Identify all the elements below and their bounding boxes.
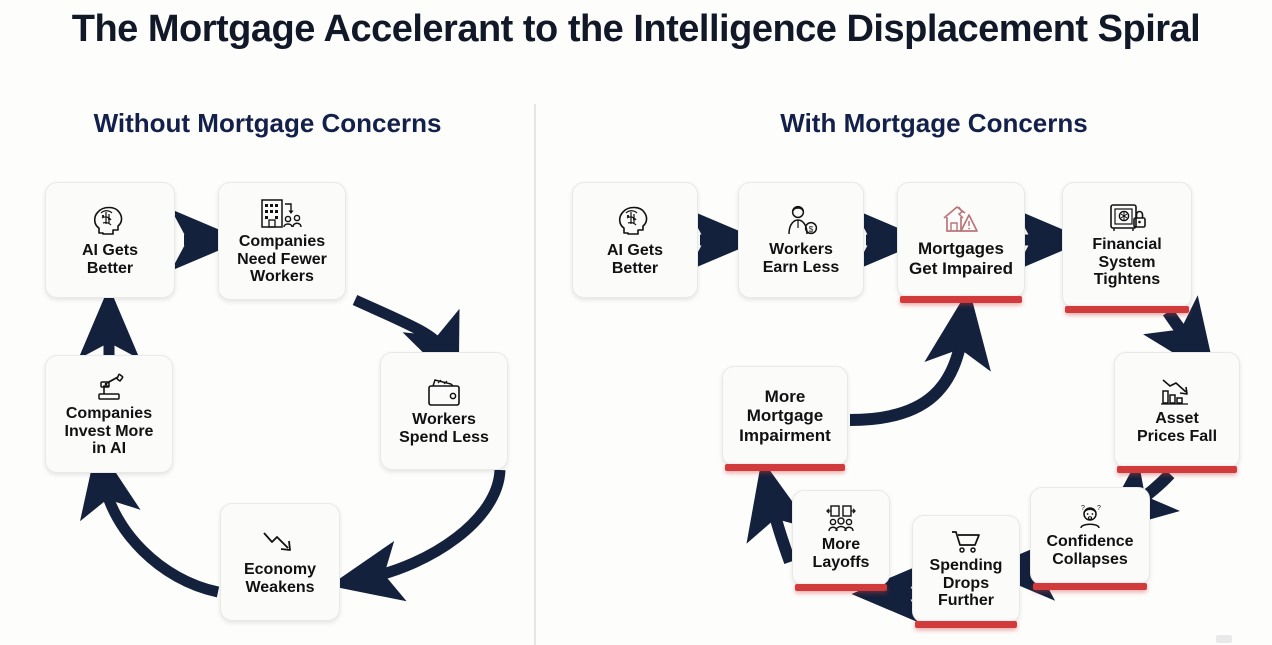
node-label: Financial System Tightens: [1088, 236, 1165, 290]
node-asset-prices-fall[interactable]: Asset Prices Fall: [1114, 352, 1240, 468]
node-confidence-collapses[interactable]: ? ? Confidence Collapses: [1030, 487, 1150, 585]
arrow-more-impair-to-mortgages: [850, 330, 963, 420]
node-label: Companies Invest More in AI: [61, 405, 158, 459]
shopping-cart-icon: [949, 528, 983, 554]
page-title: The Mortgage Accelerant to the Intellige…: [0, 8, 1272, 51]
arrow-spend-to-economy: [367, 470, 500, 578]
node-label: Companies Need Fewer Workers: [233, 233, 331, 287]
node-more-layoffs[interactable]: More Layoffs: [792, 490, 890, 586]
node-spending-drops-further[interactable]: Spending Drops Further: [912, 515, 1020, 623]
node-label: Asset Prices Fall: [1133, 410, 1221, 446]
robot-arm-icon: [87, 370, 131, 402]
arrow-financial-to-asset: [1168, 312, 1192, 345]
brain-head-icon: [615, 203, 655, 239]
chart-down-icon: [1156, 375, 1198, 407]
watermark-mark: [1216, 635, 1232, 643]
svg-text:?: ?: [1097, 505, 1101, 512]
worker-coin-icon: $: [782, 204, 820, 238]
arrow-companies-to-spend: [355, 300, 444, 352]
node-companies-need-fewer-workers[interactable]: Companies Need Fewer Workers: [218, 182, 346, 300]
node-label: Workers Earn Less: [759, 241, 843, 277]
locked-vault-icon: [1106, 201, 1148, 233]
node-companies-invest-more-in-ai[interactable]: Companies Invest More in AI: [45, 355, 173, 473]
node-ai-gets-better[interactable]: AI Gets Better: [45, 182, 175, 298]
diagram-canvas: The Mortgage Accelerant to the Intellige…: [0, 0, 1272, 645]
node-label: Mortgages Get Impaired: [905, 239, 1017, 277]
node-ai-gets-better-2[interactable]: AI Gets Better: [572, 182, 698, 298]
node-label: Workers Spend Less: [395, 411, 493, 447]
node-workers-spend-less[interactable]: Workers Spend Less: [380, 352, 508, 470]
layoff-exit-icon: [820, 505, 862, 533]
node-more-mortgage-impairment[interactable]: More Mortgage Impairment: [722, 366, 848, 466]
node-label: AI Gets Better: [603, 242, 667, 278]
svg-text:?: ?: [1081, 505, 1085, 512]
node-label: AI Gets Better: [78, 242, 142, 278]
node-economy-weakens[interactable]: Economy Weakens: [220, 503, 340, 621]
node-label: Spending Drops Further: [926, 557, 1007, 611]
brain-head-icon: [90, 203, 130, 239]
arrow-layoffs-to-more-impair: [771, 500, 790, 562]
svg-text:$: $: [809, 225, 814, 234]
node-label: Confidence Collapses: [1042, 533, 1137, 569]
office-layoff-icon: [258, 196, 306, 230]
node-label: More Layoffs: [809, 536, 874, 572]
node-mortgages-get-impaired[interactable]: Mortgages Get Impaired: [897, 182, 1025, 298]
panel-title-right: With Mortgage Concerns: [640, 108, 1228, 139]
node-label: Economy Weakens: [240, 561, 320, 597]
worried-person-icon: ? ?: [1071, 504, 1109, 530]
arrow-economy-to-invest: [104, 482, 218, 592]
node-label: More Mortgage Impairment: [735, 387, 835, 444]
node-financial-system-tightens[interactable]: Financial System Tightens: [1062, 182, 1192, 308]
downtrend-arrow-icon: [258, 528, 302, 558]
panel-divider: [534, 104, 536, 645]
cracked-house-icon: [939, 202, 983, 236]
wallet-icon: [423, 376, 465, 408]
node-workers-earn-less[interactable]: $ Workers Earn Less: [738, 182, 864, 298]
panel-title-left: Without Mortgage Concerns: [85, 108, 450, 139]
